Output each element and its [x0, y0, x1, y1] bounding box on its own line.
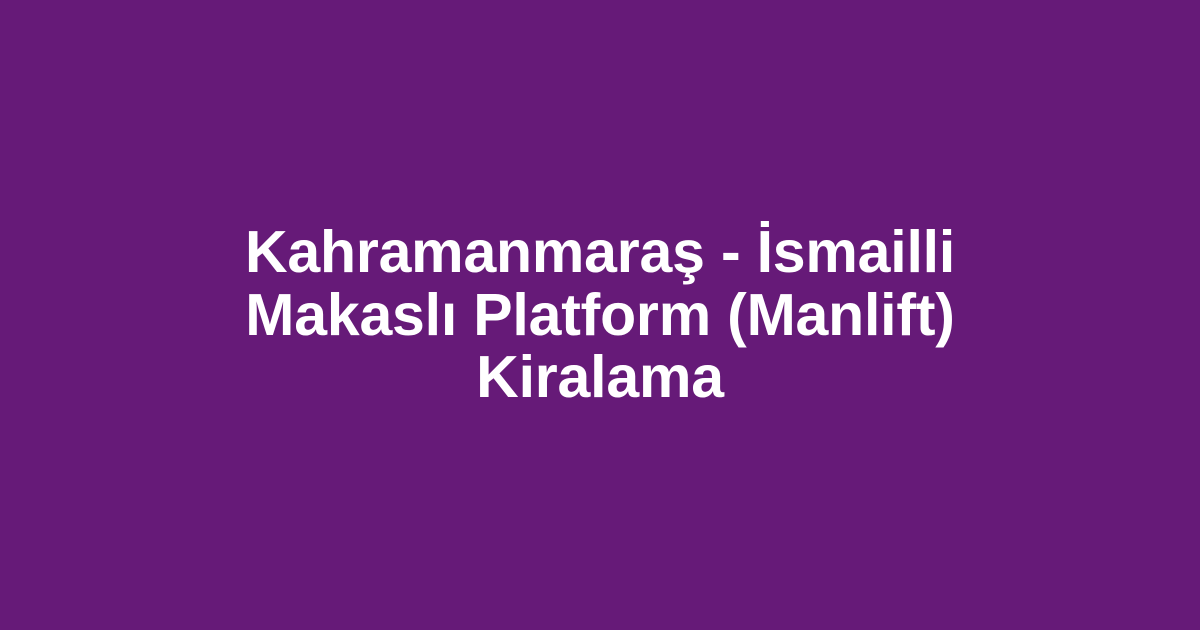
card-content-container: Kahramanmaraş - İsmailli Makaslı Platfor…: [100, 221, 1100, 409]
page-title: Kahramanmaraş - İsmailli Makaslı Platfor…: [140, 221, 1060, 409]
og-share-card: Kahramanmaraş - İsmailli Makaslı Platfor…: [0, 0, 1200, 630]
